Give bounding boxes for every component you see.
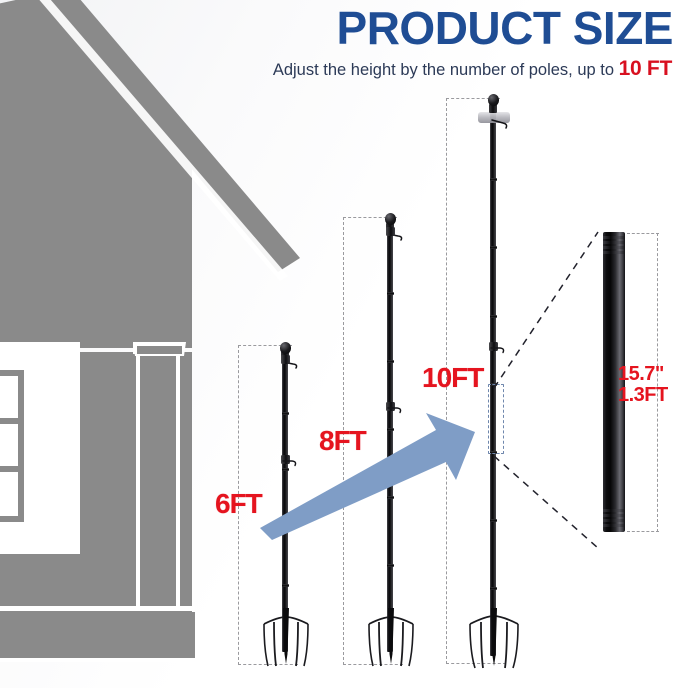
detail-label-inches: 15.7" xyxy=(618,364,664,385)
pole-joint xyxy=(387,360,394,363)
pole-joint xyxy=(387,292,394,295)
thread-ring xyxy=(603,519,625,522)
detail-view: 15.7" 1.3FT xyxy=(575,222,679,552)
pole-joint xyxy=(282,584,289,587)
hook-band xyxy=(386,227,395,236)
infographic-canvas: PRODUCT SIZE Adjust the height by the nu… xyxy=(0,0,679,688)
thread-ring xyxy=(603,241,625,244)
ground-stake-8ft xyxy=(361,608,421,673)
subtitle-text: Adjust the height by the number of poles… xyxy=(273,61,619,79)
detail-dim-tick-top xyxy=(627,233,659,234)
pole-joint xyxy=(490,587,497,590)
thread-ring xyxy=(603,246,625,249)
detail-dim-tick-bottom xyxy=(627,531,659,532)
thread-ring xyxy=(603,524,625,527)
thread-ring xyxy=(603,509,625,512)
ground-stake-6ft xyxy=(256,608,316,673)
label-10ft: 10FT xyxy=(422,362,483,394)
ball-finial-6ft xyxy=(280,342,291,354)
thread-ring xyxy=(603,251,625,254)
pole-joint xyxy=(387,564,394,567)
flag-hook-mid-8ft xyxy=(387,401,401,410)
subtitle-highlight: 10 FT xyxy=(619,57,672,80)
ground-stake-10ft xyxy=(464,608,524,675)
label-6ft: 6FT xyxy=(215,488,262,520)
hook-band xyxy=(281,355,290,364)
ball-finial-10ft xyxy=(488,94,499,106)
ball-finial-8ft xyxy=(385,213,396,225)
page-title: PRODUCT SIZE xyxy=(337,4,673,52)
thread-ring xyxy=(603,514,625,517)
detail-label-feet: 1.3FT xyxy=(618,385,668,406)
flag-hook-top-10ft xyxy=(491,116,505,125)
thread-ring xyxy=(603,236,625,239)
page-subtitle: Adjust the height by the number of poles… xyxy=(273,57,672,80)
pole-joint xyxy=(490,178,497,181)
